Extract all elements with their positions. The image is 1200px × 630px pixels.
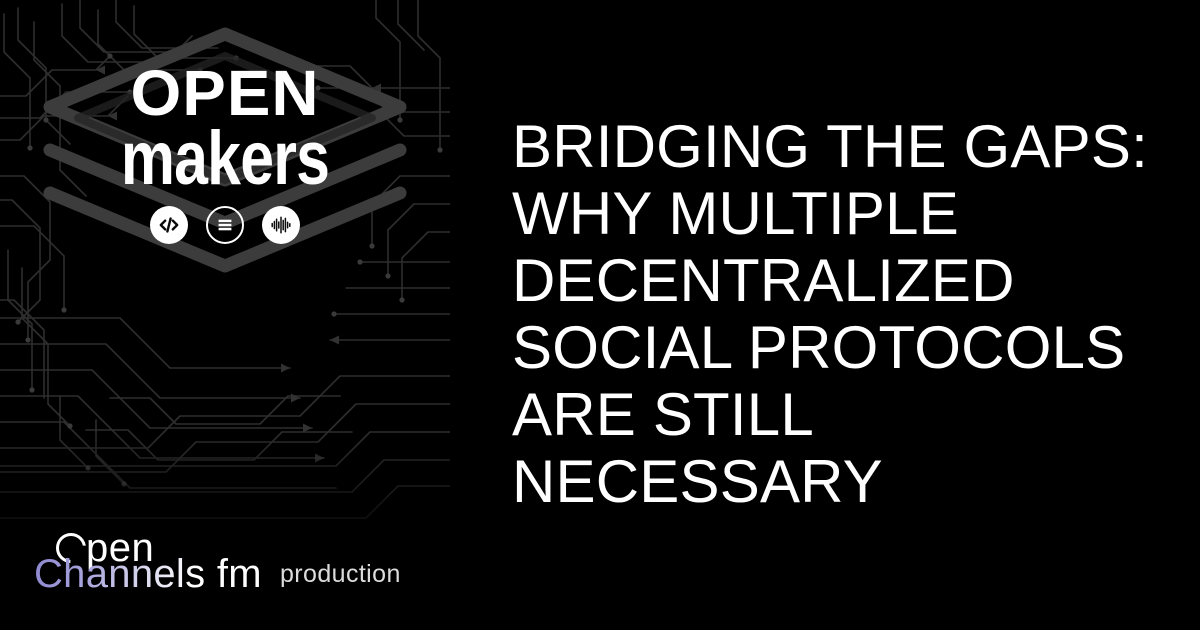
episode-title-panel: BRIDGING THE GAPS: WHY MULTIPLE DECENTRA…: [450, 0, 1200, 630]
episode-title: BRIDGING THE GAPS: WHY MULTIPLE DECENTRA…: [512, 114, 1154, 515]
brand-line-two: Channels fm: [34, 554, 262, 594]
production-label: production: [280, 562, 401, 587]
logo-secondary-text: makers: [45, 124, 405, 194]
open-channels-fm-logo: pen Channels fm: [34, 528, 262, 596]
waveform-icon: [262, 206, 300, 244]
podcast-cover-artwork: OPEN makers: [0, 0, 450, 630]
logo-primary-text: OPEN: [0, 62, 450, 124]
logo-icon-row: [0, 206, 450, 244]
lines-icon: [206, 206, 244, 244]
open-makers-logo: OPEN makers: [0, 62, 450, 244]
network-branding: pen Channels fm production: [34, 528, 401, 596]
podcast-episode-card: OPEN makers: [0, 0, 1200, 630]
code-icon: [150, 206, 188, 244]
